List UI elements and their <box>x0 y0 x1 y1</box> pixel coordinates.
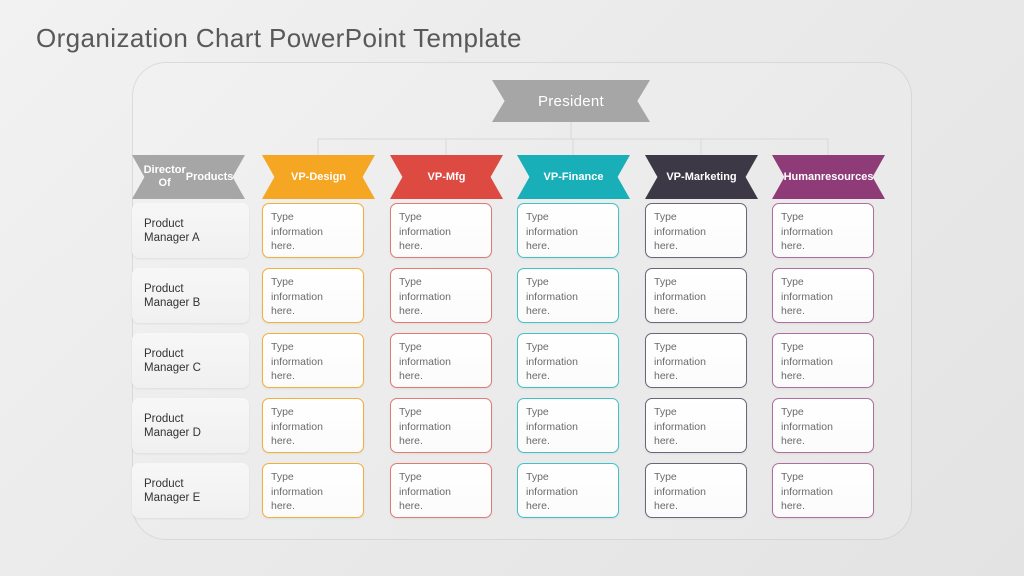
placeholder-line: information <box>271 225 355 240</box>
placeholder-text-box[interactable]: Typeinformationhere. <box>645 333 747 388</box>
placeholder-text-box[interactable]: Typeinformationhere. <box>262 333 364 388</box>
info-cell-vp-design-3[interactable]: Typeinformationhere. <box>262 398 375 453</box>
column-header-director-of-products[interactable]: Director OfProducts <box>132 155 245 199</box>
placeholder-line: Type <box>654 340 738 355</box>
placeholder-line: information <box>399 225 483 240</box>
info-cell-vp-finance-0[interactable]: Typeinformationhere. <box>517 203 630 258</box>
banner-label-line: Marketing <box>685 171 737 184</box>
manager-name-line: Product <box>144 217 200 231</box>
placeholder-line: information <box>271 485 355 500</box>
placeholder-line: here. <box>399 304 483 319</box>
banner-label-line: VP- <box>291 171 309 184</box>
placeholder-text-box[interactable]: Typeinformationhere. <box>390 268 492 323</box>
info-cell-vp-marketing-0[interactable]: Typeinformationhere. <box>645 203 758 258</box>
banner-label-line: Design <box>309 171 346 184</box>
banner-label-line: Director Of <box>144 164 186 190</box>
placeholder-line: here. <box>526 369 610 384</box>
column-header-vp-finance[interactable]: VP-Finance <box>517 155 630 199</box>
placeholder-line: here. <box>399 369 483 384</box>
placeholder-line: here. <box>654 239 738 254</box>
placeholder-line: here. <box>399 434 483 449</box>
placeholder-line: here. <box>781 369 865 384</box>
placeholder-line: information <box>781 420 865 435</box>
placeholder-line: information <box>399 355 483 370</box>
department-header-row: Director OfProductsVP-DesignVP-MfgVP-Fin… <box>132 155 912 203</box>
banner-label-line: Human <box>784 171 821 184</box>
placeholder-line: here. <box>781 499 865 514</box>
placeholder-line: Type <box>399 470 483 485</box>
placeholder-line: here. <box>271 304 355 319</box>
placeholder-line: information <box>654 355 738 370</box>
placeholder-line: Type <box>781 405 865 420</box>
manager-cell-2[interactable]: ProductManager C <box>132 333 245 388</box>
banner-vp-finance[interactable]: VP-Finance <box>517 155 630 199</box>
placeholder-text-box[interactable]: Typeinformationhere. <box>517 203 619 258</box>
node-president-label: President <box>538 93 604 110</box>
banner-label-line: Products <box>186 171 234 184</box>
manager-name-line: Product <box>144 477 200 491</box>
info-cell-vp-mfg-2[interactable]: Typeinformationhere. <box>390 333 503 388</box>
manager-cell-1[interactable]: ProductManager B <box>132 268 245 323</box>
info-cell-vp-marketing-1[interactable]: Typeinformationhere. <box>645 268 758 323</box>
placeholder-text-box[interactable]: Typeinformationhere. <box>772 268 874 323</box>
placeholder-text-box[interactable]: Typeinformationhere. <box>390 398 492 453</box>
manager-name-line: Manager E <box>144 491 200 505</box>
placeholder-line: information <box>654 485 738 500</box>
column-header-vp-marketing[interactable]: VP-Marketing <box>645 155 758 199</box>
banner-vp-mfg[interactable]: VP-Mfg <box>390 155 503 199</box>
placeholder-line: Type <box>526 470 610 485</box>
manager-name-line: Product <box>144 412 201 426</box>
manager-cell-4[interactable]: ProductManager E <box>132 463 245 518</box>
placeholder-text-box[interactable]: Typeinformationhere. <box>262 268 364 323</box>
info-cell-vp-finance-2[interactable]: Typeinformationhere. <box>517 333 630 388</box>
banner-director-of-products[interactable]: Director OfProducts <box>132 155 245 199</box>
info-cell-vp-marketing-2[interactable]: Typeinformationhere. <box>645 333 758 388</box>
placeholder-line: information <box>526 290 610 305</box>
placeholder-line: information <box>271 420 355 435</box>
table-row: ProductManager ETypeinformationhere.Type… <box>132 463 912 528</box>
banner-label-line: Finance <box>562 171 604 184</box>
placeholder-line: information <box>526 355 610 370</box>
placeholder-line: Type <box>654 405 738 420</box>
info-cell-vp-design-1[interactable]: Typeinformationhere. <box>262 268 375 323</box>
placeholder-line: information <box>654 420 738 435</box>
placeholder-line: here. <box>271 434 355 449</box>
info-cell-human-resources-1[interactable]: Typeinformationhere. <box>772 268 885 323</box>
manager-name[interactable]: ProductManager C <box>132 333 249 388</box>
table-row: ProductManager DTypeinformationhere.Type… <box>132 398 912 463</box>
placeholder-line: Type <box>271 405 355 420</box>
placeholder-line: here. <box>526 304 610 319</box>
placeholder-text-box[interactable]: Typeinformationhere. <box>517 398 619 453</box>
placeholder-line: Type <box>526 405 610 420</box>
manager-cell-0[interactable]: ProductManager A <box>132 203 245 258</box>
info-cell-human-resources-4[interactable]: Typeinformationhere. <box>772 463 885 518</box>
manager-name-line: Product <box>144 282 200 296</box>
placeholder-text-box[interactable]: Typeinformationhere. <box>772 333 874 388</box>
table-row: ProductManager BTypeinformationhere.Type… <box>132 268 912 333</box>
placeholder-text-box[interactable]: Typeinformationhere. <box>772 203 874 258</box>
placeholder-text-box[interactable]: Typeinformationhere. <box>645 203 747 258</box>
placeholder-line: information <box>271 290 355 305</box>
placeholder-line: information <box>526 225 610 240</box>
placeholder-line: information <box>781 355 865 370</box>
info-cell-human-resources-2[interactable]: Typeinformationhere. <box>772 333 885 388</box>
placeholder-text-box[interactable]: Typeinformationhere. <box>517 463 619 518</box>
placeholder-line: Type <box>399 405 483 420</box>
manager-name-line: Manager D <box>144 426 201 440</box>
placeholder-text-box[interactable]: Typeinformationhere. <box>645 398 747 453</box>
placeholder-line: Type <box>781 340 865 355</box>
placeholder-line: here. <box>526 239 610 254</box>
info-cell-vp-design-0[interactable]: Typeinformationhere. <box>262 203 375 258</box>
banner-human-resources[interactable]: Humanresources <box>772 155 885 199</box>
column-header-vp-mfg[interactable]: VP-Mfg <box>390 155 503 199</box>
placeholder-line: Type <box>271 210 355 225</box>
placeholder-line: information <box>781 290 865 305</box>
column-header-human-resources[interactable]: Humanresources <box>772 155 885 199</box>
manager-name-line: Product <box>144 347 201 361</box>
banner-vp-design[interactable]: VP-Design <box>262 155 375 199</box>
placeholder-line: Type <box>271 340 355 355</box>
placeholder-line: Type <box>781 275 865 290</box>
placeholder-line: here. <box>781 239 865 254</box>
info-cell-vp-mfg-3[interactable]: Typeinformationhere. <box>390 398 503 453</box>
page-title: Organization Chart PowerPoint Template <box>36 23 522 54</box>
info-cell-human-resources-0[interactable]: Typeinformationhere. <box>772 203 885 258</box>
placeholder-line: here. <box>399 239 483 254</box>
placeholder-text-box[interactable]: Typeinformationhere. <box>390 203 492 258</box>
placeholder-text-box[interactable]: Typeinformationhere. <box>390 333 492 388</box>
manager-name[interactable]: ProductManager E <box>132 463 249 518</box>
placeholder-line: Type <box>399 275 483 290</box>
placeholder-text-box[interactable]: Typeinformationhere. <box>262 463 364 518</box>
placeholder-line: information <box>399 420 483 435</box>
placeholder-line: Type <box>526 340 610 355</box>
placeholder-line: Type <box>399 340 483 355</box>
manager-cell-3[interactable]: ProductManager D <box>132 398 245 453</box>
placeholder-line: information <box>399 485 483 500</box>
placeholder-line: information <box>781 485 865 500</box>
placeholder-line: information <box>781 225 865 240</box>
table-row: ProductManager CTypeinformationhere.Type… <box>132 333 912 398</box>
info-cell-vp-mfg-0[interactable]: Typeinformationhere. <box>390 203 503 258</box>
placeholder-line: information <box>654 290 738 305</box>
info-cell-vp-mfg-1[interactable]: Typeinformationhere. <box>390 268 503 323</box>
placeholder-text-box[interactable]: Typeinformationhere. <box>645 463 747 518</box>
placeholder-line: here. <box>781 434 865 449</box>
placeholder-text-box[interactable]: Typeinformationhere. <box>645 268 747 323</box>
placeholder-line: Type <box>399 210 483 225</box>
placeholder-line: here. <box>781 304 865 319</box>
placeholder-line: information <box>654 225 738 240</box>
info-cell-vp-finance-4[interactable]: Typeinformationhere. <box>517 463 630 518</box>
placeholder-line: information <box>526 420 610 435</box>
placeholder-line: Type <box>781 470 865 485</box>
column-header-vp-design[interactable]: VP-Design <box>262 155 375 199</box>
manager-name-line: Manager A <box>144 231 200 245</box>
info-cell-vp-marketing-4[interactable]: Typeinformationhere. <box>645 463 758 518</box>
placeholder-line: information <box>526 485 610 500</box>
placeholder-line: Type <box>271 470 355 485</box>
info-cell-vp-finance-3[interactable]: Typeinformationhere. <box>517 398 630 453</box>
placeholder-line: Type <box>654 275 738 290</box>
banner-label-line: VP- <box>544 171 562 184</box>
info-cell-vp-finance-1[interactable]: Typeinformationhere. <box>517 268 630 323</box>
table-row: ProductManager ATypeinformationhere.Type… <box>132 203 912 268</box>
placeholder-text-box[interactable]: Typeinformationhere. <box>772 398 874 453</box>
manager-name[interactable]: ProductManager D <box>132 398 249 453</box>
placeholder-line: Type <box>271 275 355 290</box>
placeholder-line: here. <box>399 499 483 514</box>
info-cell-vp-marketing-3[interactable]: Typeinformationhere. <box>645 398 758 453</box>
placeholder-line: Type <box>526 210 610 225</box>
placeholder-line: Type <box>781 210 865 225</box>
placeholder-text-box[interactable]: Typeinformationhere. <box>390 463 492 518</box>
placeholder-text-box[interactable]: Typeinformationhere. <box>517 333 619 388</box>
placeholder-line: here. <box>271 239 355 254</box>
placeholder-line: here. <box>526 434 610 449</box>
placeholder-line: here. <box>271 499 355 514</box>
info-cell-vp-design-2[interactable]: Typeinformationhere. <box>262 333 375 388</box>
info-cell-vp-design-4[interactable]: Typeinformationhere. <box>262 463 375 518</box>
placeholder-text-box[interactable]: Typeinformationhere. <box>772 463 874 518</box>
placeholder-line: information <box>271 355 355 370</box>
placeholder-line: here. <box>654 369 738 384</box>
banner-label-line: VP-Mfg <box>428 171 466 184</box>
placeholder-line: Type <box>654 210 738 225</box>
placeholder-line: information <box>399 290 483 305</box>
placeholder-line: here. <box>526 499 610 514</box>
manager-name[interactable]: ProductManager A <box>132 203 249 258</box>
placeholder-line: here. <box>654 499 738 514</box>
manager-name[interactable]: ProductManager B <box>132 268 249 323</box>
node-president[interactable]: President <box>492 80 650 122</box>
info-cell-vp-mfg-4[interactable]: Typeinformationhere. <box>390 463 503 518</box>
placeholder-text-box[interactable]: Typeinformationhere. <box>517 268 619 323</box>
placeholder-text-box[interactable]: Typeinformationhere. <box>262 203 364 258</box>
info-cell-human-resources-3[interactable]: Typeinformationhere. <box>772 398 885 453</box>
manager-name-line: Manager B <box>144 296 200 310</box>
placeholder-text-box[interactable]: Typeinformationhere. <box>262 398 364 453</box>
banner-label-line: resources <box>821 171 874 184</box>
placeholder-line: Type <box>526 275 610 290</box>
banner-label-line: VP- <box>666 171 684 184</box>
placeholder-line: here. <box>271 369 355 384</box>
org-chart-grid: Director OfProductsVP-DesignVP-MfgVP-Fin… <box>132 155 912 528</box>
banner-vp-marketing[interactable]: VP-Marketing <box>645 155 758 199</box>
placeholder-line: here. <box>654 434 738 449</box>
manager-name-line: Manager C <box>144 361 201 375</box>
placeholder-line: here. <box>654 304 738 319</box>
placeholder-line: Type <box>654 470 738 485</box>
